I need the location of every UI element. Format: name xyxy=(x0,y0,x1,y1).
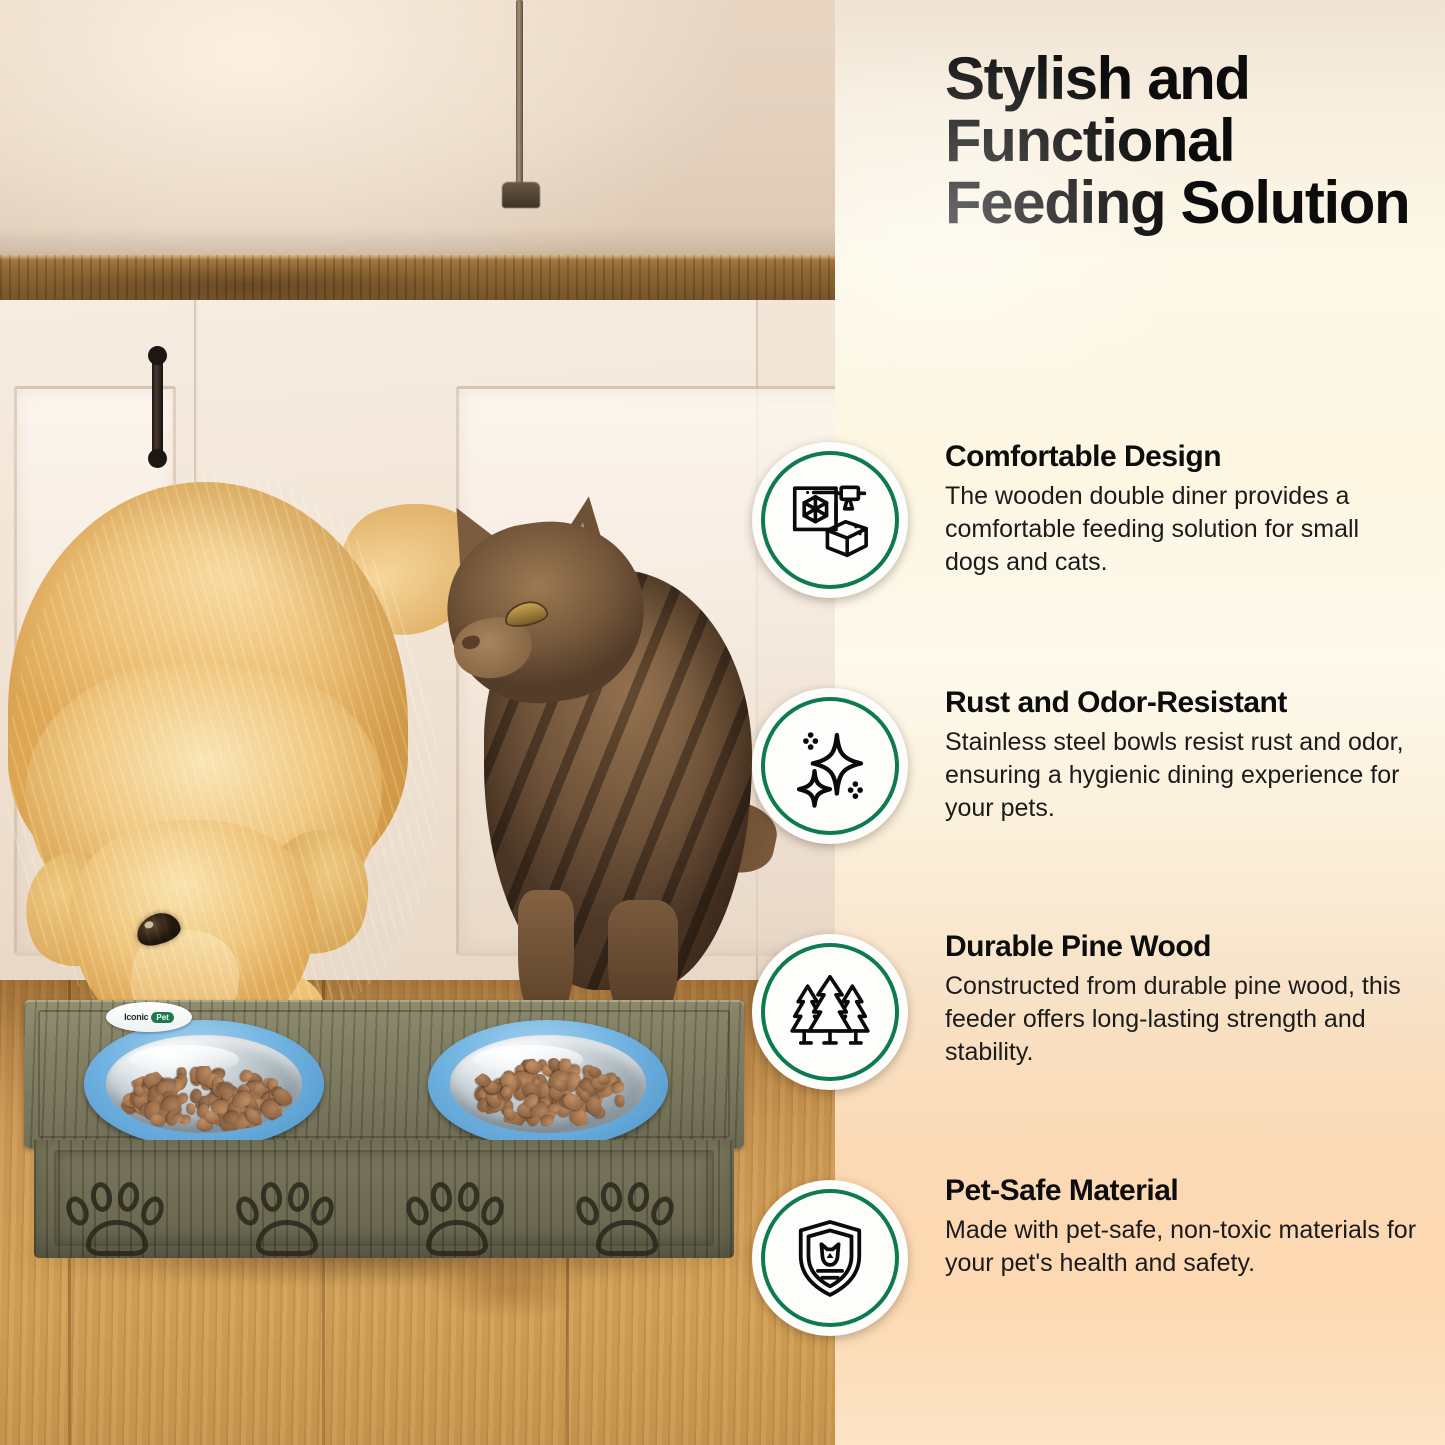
feature-icon-badge-1 xyxy=(752,442,908,598)
feature-title: Comfortable Design xyxy=(945,440,1420,474)
feature-comfortable-design: Comfortable Design The wooden double din… xyxy=(945,440,1420,579)
kibble-left xyxy=(118,1066,294,1132)
feature-icon-badge-3 xyxy=(752,934,908,1090)
product-photo: Iconic Pet xyxy=(0,0,835,1445)
feature-icon-badge-2 xyxy=(752,688,908,844)
kibble-right xyxy=(468,1058,632,1128)
feature-body: Stainless steel bowls resist rust and od… xyxy=(945,726,1420,825)
cabinet-handle-vertical xyxy=(152,352,163,462)
brand-pill: Pet xyxy=(151,1012,173,1023)
feeder-bowl-right xyxy=(428,1020,668,1148)
feature-body: Constructed from durable pine wood, this… xyxy=(945,970,1420,1069)
kitchen-wall xyxy=(0,0,835,272)
pine-trees-icon xyxy=(787,969,873,1055)
content-panel: Stylish and Functional Feeding Solution … xyxy=(835,0,1445,1445)
feature-body: The wooden double diner provides a comfo… xyxy=(945,480,1420,579)
feature-icon-badge-4 xyxy=(752,1180,908,1336)
wall-rod xyxy=(516,0,523,196)
brand-name: Iconic xyxy=(124,1012,148,1022)
page-title: Stylish and Functional Feeding Solution xyxy=(945,48,1415,233)
feature-title: Pet-Safe Material xyxy=(945,1174,1420,1208)
wall-rod-base xyxy=(502,182,540,208)
feeder-bowl-left xyxy=(84,1020,324,1148)
feature-title: Rust and Odor-Resistant xyxy=(945,686,1420,720)
trim-highlight xyxy=(0,255,835,260)
counter-trim xyxy=(0,255,835,305)
sparkle-icon xyxy=(787,723,873,809)
paw-carving xyxy=(576,1182,680,1256)
cat xyxy=(432,500,762,1040)
product-infographic: Iconic Pet St xyxy=(0,0,1445,1445)
paw-carving xyxy=(406,1182,510,1256)
3d-print-design-icon xyxy=(787,477,873,563)
pet-feeder: Iconic Pet xyxy=(24,1000,744,1265)
paw-carving xyxy=(236,1182,340,1256)
shield-cat-icon xyxy=(787,1215,873,1301)
dog xyxy=(8,472,438,1032)
brand-sticker: Iconic Pet xyxy=(106,1002,192,1032)
feature-title: Durable Pine Wood xyxy=(945,930,1420,964)
paw-carving xyxy=(66,1182,170,1256)
feature-durable-pine-wood: Durable Pine Wood Constructed from durab… xyxy=(945,930,1420,1069)
feature-body: Made with pet-safe, non-toxic materials … xyxy=(945,1214,1420,1280)
feature-rust-odor-resistant: Rust and Odor-Resistant Stainless steel … xyxy=(945,686,1420,825)
feature-pet-safe-material: Pet-Safe Material Made with pet-safe, no… xyxy=(945,1174,1420,1280)
